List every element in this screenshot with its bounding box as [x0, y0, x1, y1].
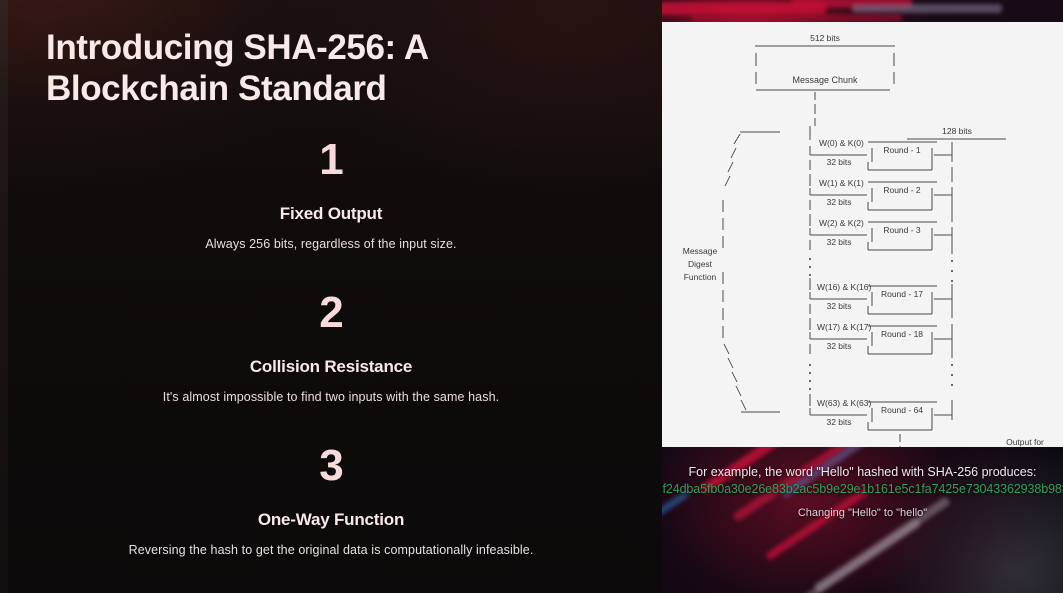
feature-number-1: 1: [0, 138, 662, 182]
feature-description-1: Always 256 bits, regardless of the input…: [0, 237, 662, 251]
feature-item-3: 3 One-Way Function Reversing the hash to…: [0, 444, 662, 557]
diagram-row-bits-label-5: 32 bits: [826, 341, 851, 351]
diagram-row-w-label-5: W(17) & K(17): [817, 322, 871, 332]
diagram-row-bits-label-3: 32 bits: [826, 237, 851, 247]
diagram-row-bits-label-1: 32 bits: [826, 157, 851, 167]
diagram-label-message-digest-line3: Function: [684, 272, 717, 282]
example-caption-line: For example, the word "Hello" hashed wit…: [662, 464, 1063, 481]
diagram-row-round-label-2: Round - 2: [883, 185, 921, 195]
diagram-row-w-label-2: W(1) & K(1): [819, 178, 864, 188]
diagram-row-w-label-1: W(0) & K(0): [819, 138, 864, 148]
diagram-row-round-label-6: Round - 64: [881, 405, 923, 415]
diagram-row-bits-label-6: 32 bits: [826, 417, 851, 427]
feature-number-2: 2: [0, 291, 662, 335]
diagram-row-w-label-6: W(63) & K(63): [817, 398, 871, 408]
code-streak-decoration: [852, 4, 1002, 13]
diagram-row-round-label-1: Round - 1: [883, 145, 921, 155]
diagram-row-bits-label-2: 32 bits: [826, 197, 851, 207]
diagram-label-output-line1: Output for: [1006, 437, 1044, 447]
diagram-label-message-digest-line2: Digest: [688, 259, 713, 269]
feature-number-3: 3: [0, 444, 662, 488]
feature-title-3: One-Way Function: [0, 510, 662, 530]
diagram-row-bits-label-4: 32 bits: [826, 301, 851, 311]
diagram-label-message-chunk: Message Chunk: [792, 75, 858, 85]
slide-root: Introducing SHA-256: A Blockchain Standa…: [0, 0, 1063, 593]
right-media-panel: 512 bits Message Chunk 128 bits Message …: [662, 0, 1063, 593]
feature-title-1: Fixed Output: [0, 204, 662, 224]
left-panel-inner: Introducing SHA-256: A Blockchain Standa…: [0, 0, 662, 593]
diagram-row-w-label-4: W(16) & K(16): [817, 282, 871, 292]
example-hash-value: 2cf24dba5fb0a30e26e83b2ac5b9e29e1b161e5c…: [662, 482, 1063, 496]
code-streak-decoration: [765, 487, 869, 561]
feature-title-2: Collision Resistance: [0, 357, 662, 377]
sha256-flow-diagram: 512 bits Message Chunk 128 bits Message …: [662, 22, 1063, 447]
left-content-panel: Introducing SHA-256: A Blockchain Standa…: [0, 0, 662, 593]
code-streak-decoration: [692, 14, 902, 22]
diagram-label-128-bits: 128 bits: [942, 126, 972, 136]
feature-item-2: 2 Collision Resistance It's almost impos…: [0, 291, 662, 404]
diagram-row-round-label-5: Round - 18: [881, 329, 923, 339]
page-title: Introducing SHA-256: A Blockchain Standa…: [46, 28, 586, 110]
diagram-row-round-label-4: Round - 17: [881, 289, 923, 299]
diagram-row-round-label-3: Round - 3: [883, 225, 921, 235]
feature-description-3: Reversing the hash to get the original d…: [0, 543, 662, 557]
feature-item-1: 1 Fixed Output Always 256 bits, regardle…: [0, 138, 662, 251]
diagram-label-message-digest-line1: Message: [683, 246, 718, 256]
diagram-label-512-bits: 512 bits: [810, 33, 840, 43]
diagram-row-w-label-3: W(2) & K(2): [819, 218, 864, 228]
feature-description-2: It's almost impossible to find two input…: [0, 390, 662, 404]
example-change-note: Changing "Hello" to "hello": [662, 507, 1063, 519]
